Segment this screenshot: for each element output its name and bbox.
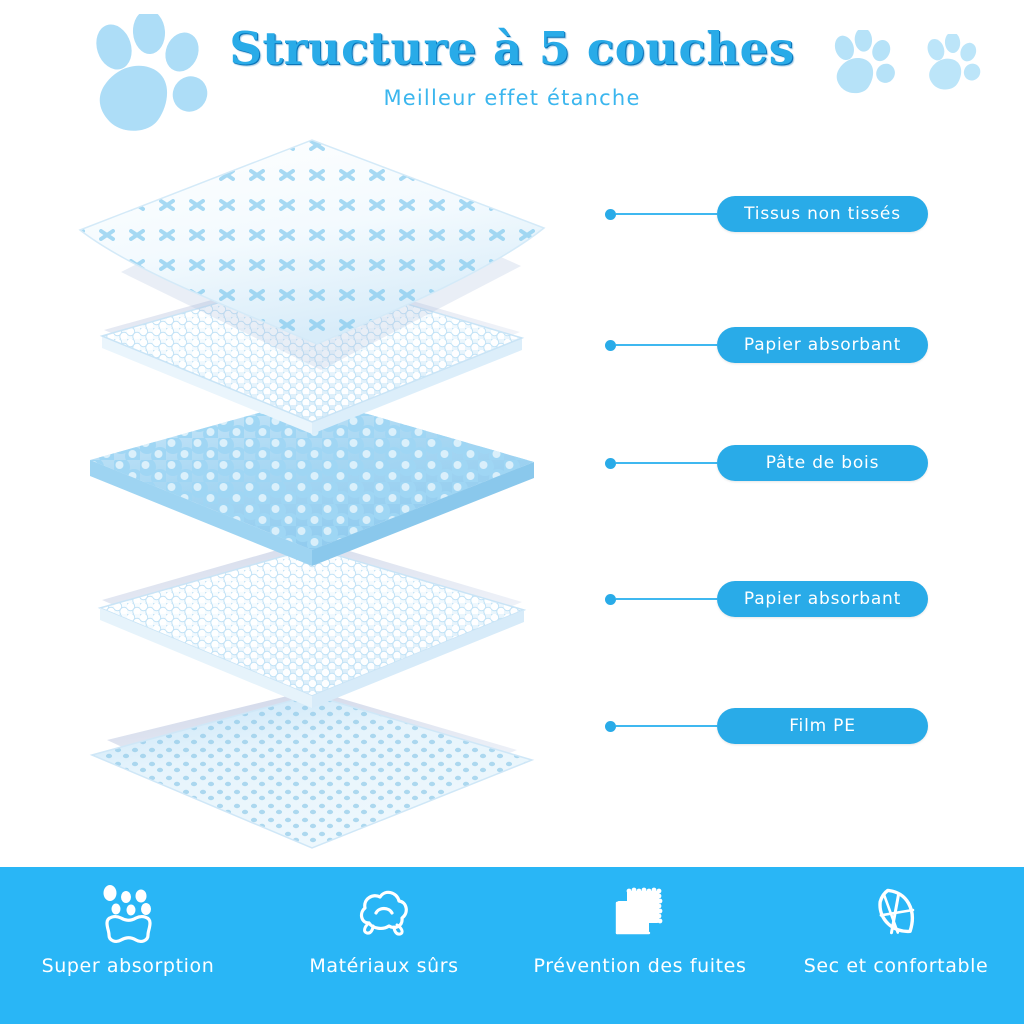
callout-dot bbox=[605, 340, 616, 351]
leaf-icon bbox=[860, 883, 932, 945]
exploded-layer-stack bbox=[62, 130, 582, 860]
callout-label[interactable]: Film PE bbox=[717, 708, 928, 744]
infographic-page: Structure à 5 couches Meilleur effet éta… bbox=[0, 0, 1024, 1024]
callout-tissus-non-tisses[interactable]: Tissus non tissés bbox=[605, 196, 928, 232]
layer-stack-svg bbox=[62, 130, 582, 860]
feature-super-absorption[interactable]: Super absorption bbox=[0, 867, 256, 1024]
layer-film-pe bbox=[92, 690, 532, 848]
callout-dot bbox=[605, 209, 616, 220]
callout-leader-line bbox=[616, 344, 717, 346]
callout-label[interactable]: Pâte de bois bbox=[717, 445, 928, 481]
feature-bar: Super absorption Matériaux sûrs bbox=[0, 867, 1024, 1024]
callout-dot bbox=[605, 594, 616, 605]
callout-leader-line bbox=[616, 462, 717, 464]
callout-label[interactable]: Papier absorbant bbox=[717, 327, 928, 363]
page-subtitle: Meilleur effet étanche bbox=[0, 86, 1024, 110]
callout-pate-de-bois[interactable]: Pâte de bois bbox=[605, 445, 928, 481]
callout-leader-line bbox=[616, 213, 717, 215]
callout-dot bbox=[605, 721, 616, 732]
callout-dot bbox=[605, 458, 616, 469]
callout-papier-absorbant-1[interactable]: Papier absorbant bbox=[605, 327, 928, 363]
feature-prevention-des-fuites[interactable]: Prévention des fuites bbox=[512, 867, 768, 1024]
feature-label: Prévention des fuites bbox=[534, 955, 747, 977]
callout-papier-absorbant-2[interactable]: Papier absorbant bbox=[605, 581, 928, 617]
callout-leader-line bbox=[616, 725, 717, 727]
page-title: Structure à 5 couches bbox=[0, 22, 1024, 75]
feature-materiaux-surs[interactable]: Matériaux sûrs bbox=[256, 867, 512, 1024]
sponge-bubbles-icon bbox=[92, 883, 164, 945]
feature-sec-et-confortable[interactable]: Sec et confortable bbox=[768, 867, 1024, 1024]
feature-label: Matériaux sûrs bbox=[309, 955, 458, 977]
feature-label: Super absorption bbox=[42, 955, 215, 977]
stacked-pads-icon bbox=[604, 883, 676, 945]
feature-label: Sec et confortable bbox=[804, 955, 989, 977]
callout-label[interactable]: Papier absorbant bbox=[717, 581, 928, 617]
callout-label[interactable]: Tissus non tissés bbox=[717, 196, 928, 232]
callout-leader-line bbox=[616, 598, 717, 600]
callout-film-pe[interactable]: Film PE bbox=[605, 708, 928, 744]
cotton-ball-smile-icon bbox=[348, 883, 420, 945]
